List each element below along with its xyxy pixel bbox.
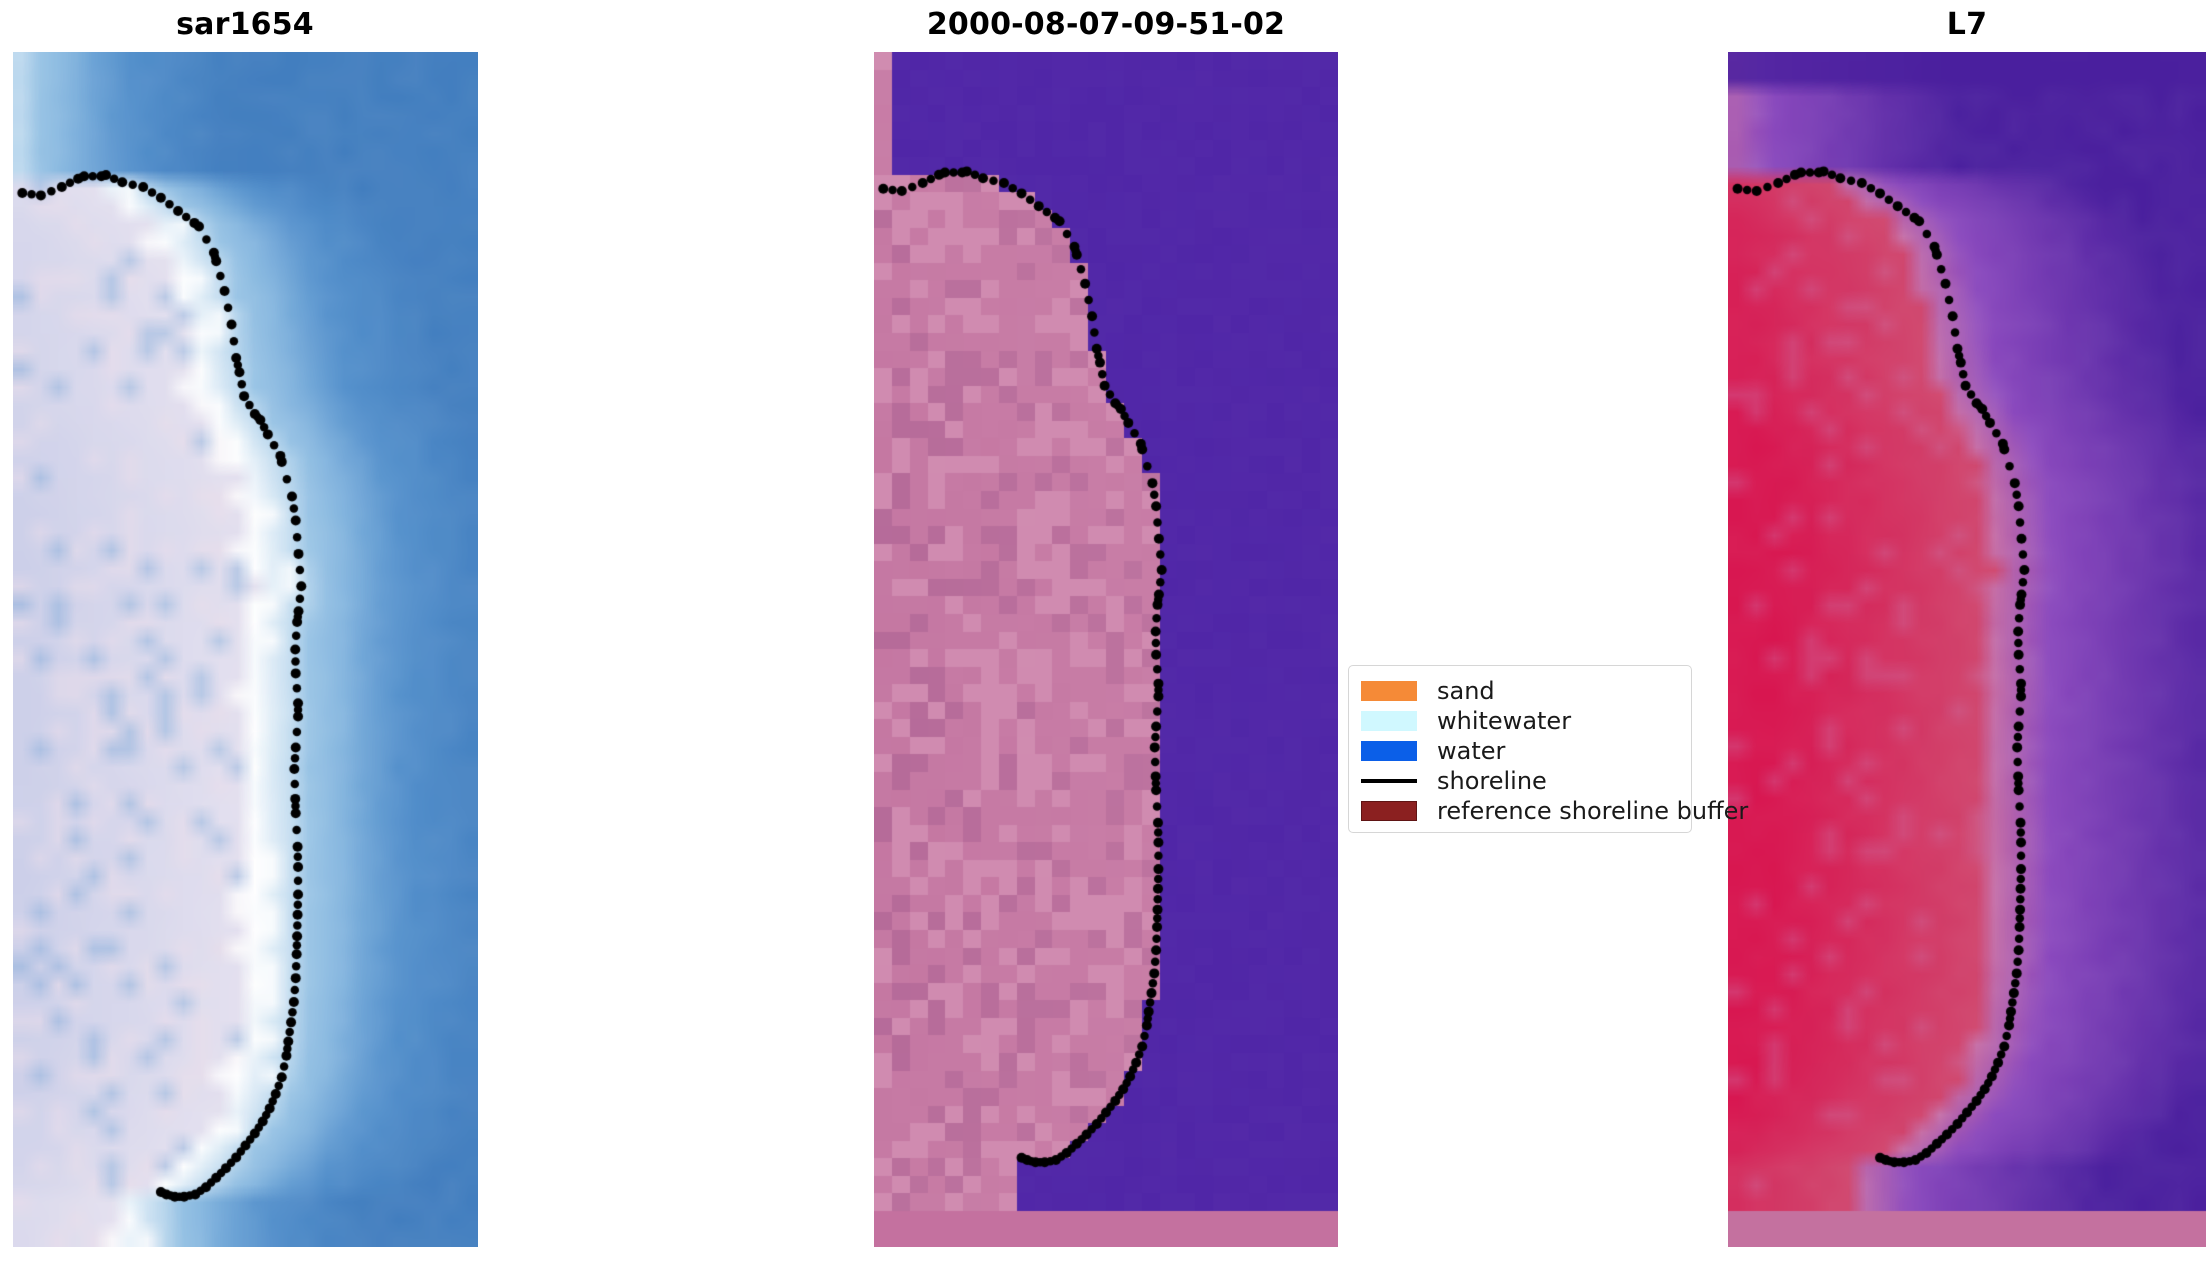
figure-root: sar1654 2000-08-07-09-51-02 L7 sand whit… [0,0,2206,1283]
legend-item: reference shoreline buffer [1361,796,1677,826]
l7-image [1728,52,2206,1247]
legend-item: shoreline [1361,766,1677,796]
classified-panel [874,52,1338,1247]
panel-title-sar: sar1654 [0,10,490,40]
sar-panel [13,52,478,1247]
sar-image [13,52,478,1247]
legend-swatch-whitewater [1361,711,1417,731]
legend-label-whitewater: whitewater [1437,709,1571,733]
legend-label-reference-shoreline-buffer: reference shoreline buffer [1437,799,1748,823]
legend-label-water: water [1437,739,1505,763]
legend-swatch-sand [1361,681,1417,701]
legend-item: whitewater [1361,706,1677,736]
legend-label-sand: sand [1437,679,1495,703]
panel-title-classified: 2000-08-07-09-51-02 [862,10,1350,40]
classified-image [874,52,1338,1247]
legend-swatch-reference-shoreline-buffer [1361,801,1417,821]
legend-swatch-shoreline [1361,779,1417,783]
legend-label-shoreline: shoreline [1437,769,1547,793]
panel-title-l7: L7 [1716,10,2206,40]
legend-swatch-water [1361,741,1417,761]
map-legend: sand whitewater water shoreline referenc… [1348,665,1692,833]
l7-panel [1728,52,2206,1247]
legend-item: sand [1361,676,1677,706]
legend-item: water [1361,736,1677,766]
